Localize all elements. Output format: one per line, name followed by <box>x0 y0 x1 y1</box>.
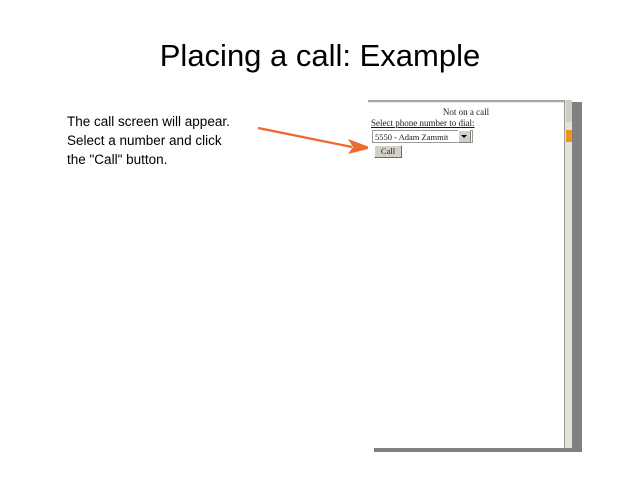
phone-number-select-label: Select phone number to dial: <box>371 118 474 128</box>
call-screen-window: Not on a call Select phone number to dia… <box>368 96 572 448</box>
window-shadow-right <box>572 102 582 448</box>
call-button[interactable]: Call <box>374 145 402 158</box>
phone-number-select[interactable]: 5550 - Adam Zammit <box>372 130 473 143</box>
call-status-text: Not on a call <box>368 107 564 117</box>
chevron-down-icon[interactable] <box>458 130 471 143</box>
scrollbar-thumb[interactable] <box>566 100 572 122</box>
slide-body-text: The call screen will appear. Select a nu… <box>67 112 287 169</box>
body-text-line-2: Select a number and click <box>67 131 287 150</box>
page-title: Placing a call: Example <box>0 38 640 74</box>
scrollbar-marker <box>566 130 572 142</box>
embedded-app-screenshot: Not on a call Select phone number to dia… <box>368 96 572 448</box>
phone-number-select-value: 5550 - Adam Zammit <box>373 132 458 142</box>
vertical-scrollbar[interactable] <box>564 100 572 448</box>
window-chrome-divider-light <box>368 102 564 103</box>
body-text-line-3: the "Call" button. <box>67 150 287 169</box>
body-text-line-1: The call screen will appear. <box>67 112 287 131</box>
